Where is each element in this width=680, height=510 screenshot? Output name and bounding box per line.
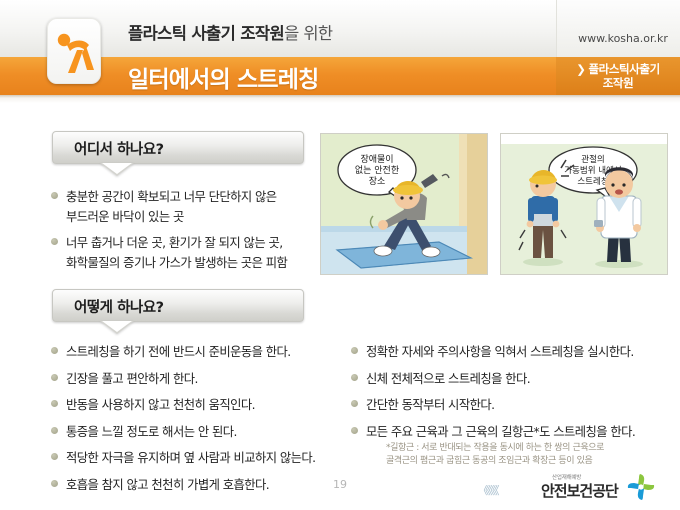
section-banner-how: 어떻게 하나요? [52,289,304,322]
list-item: 통증을 느낄 정도로 해서는 안 된다. [50,421,330,441]
bullet-dot-icon [51,427,58,434]
list-item: 너무 춥거나 더운 곳, 환기가 잘 되지 않는 곳, 화학물질의 증기나 가스… [50,232,315,271]
list-item: 긴장을 풀고 편안하게 한다. [50,368,330,388]
chevron-right-icon: ❯ [576,62,585,76]
list-item: 스트레칭을 하기 전에 반드시 준비운동을 한다. [50,341,330,361]
section-banner-where: 어디서 하나요? [52,131,304,164]
bullet-text: 신체 전체적으로 스트레칭을 한다. [366,372,530,386]
list-item: 모든 주요 근육과 그 근육의 길항근*도 스트레칭을 한다. *길항근 : 서… [350,421,668,469]
svg-text:장소: 장소 [369,176,386,187]
bullet-dot-icon [351,347,358,354]
svg-text:없는 안전한: 없는 안전한 [355,165,399,176]
header-subtitle-bold: 플라스틱 사출기 조작원 [128,24,284,43]
bullet-text: 스트레칭을 하기 전에 반드시 준비운동을 한다. [66,345,291,359]
kosha-pinwheel-logo [626,472,656,502]
header-right-title-line1: 플라스틱사출기 [588,62,659,76]
list-item: 적당한 자극을 유지하며 옆 사람과 비교하지 않는다. [50,447,330,467]
bullet-text: 충분한 공간이 확보되고 너무 단단하지 않은 부드러운 바닥이 있는 곳 [66,190,277,224]
list-item: 반동을 사용하지 않고 천천히 움직인다. [50,394,330,414]
header-subtitle-light: 을 위한 [284,24,332,43]
list-item: 신체 전체적으로 스트레칭을 한다. [350,368,668,388]
header-url[interactable]: www.kosha.or.kr [566,32,680,45]
illustration-doctor-advising: 관절의 가동범위 내에서 스트레칭 [500,133,668,275]
bullet-dot-icon [51,400,58,407]
slide-header: 플라스틱 사출기 조작원을 위한 일터에서의 스트레칭 www.kosha.or… [0,0,680,103]
bullet-dot-icon [51,238,58,245]
worker-stretching-on-mat: 장애물이 없는 안전한 장소 [321,134,487,274]
bullet-text: 긴장을 풀고 편안하게 한다. [66,372,198,386]
footnote-antagonist-muscle: *길항근 : 서로 반대되는 작용을 동시에 하는 한 쌍의 근육으로 골격근의… [386,442,668,468]
bullet-dot-icon [51,347,58,354]
bullet-text: 통증을 느낄 정도로 해서는 안 된다. [66,425,237,439]
list-item: 간단한 동작부터 시작한다. [350,394,668,414]
header-right-title: ❯플라스틱사출기 조작원 [556,62,680,90]
footer-org-name: 안전보건공단 [541,480,618,501]
bullet-text: 간단한 동작부터 시작한다. [366,398,494,412]
header-subtitle: 플라스틱 사출기 조작원을 위한 [128,20,332,44]
bullet-dot-icon [51,374,58,381]
bullet-dot-icon [351,374,358,381]
banner-notch-inner [102,163,132,174]
bullet-dot-icon [351,427,358,434]
list-item: 정확한 자세와 주의사항을 익혀서 스트레칭을 실시한다. [350,341,668,361]
list-item: 충분한 공간이 확보되고 너무 단단하지 않은 부드러운 바닥이 있는 곳 [50,186,315,225]
bullet-text: 적당한 자극을 유지하며 옆 사람과 비교하지 않는다. [66,451,316,465]
bullet-dot-icon [51,453,58,460]
footer-logo: 《《《《 산업재해예방 안전보건공단 [478,470,678,504]
bullet-list-how-left: 스트레칭을 하기 전에 반드시 준비운동을 한다. 긴장을 풀고 편안하게 한다… [50,341,330,500]
section-heading-where: 어디서 하나요? [74,138,164,159]
doctor-advising-worker: 관절의 가동범위 내에서 스트레칭 [501,134,667,274]
svg-text:스트레칭: 스트레칭 [577,177,608,187]
svg-text:관절의: 관절의 [581,154,604,165]
header-right-title-line2: 조작원 [603,76,634,90]
section-heading-how: 어떻게 하나요? [74,296,164,317]
bullet-text: 반동을 사용하지 않고 천천히 움직인다. [66,398,255,412]
banner-notch-inner [102,321,132,332]
bullet-dot-icon [51,192,58,199]
bullet-dot-icon [351,400,358,407]
brand-logo-box [47,18,101,84]
svg-text:장애물이: 장애물이 [360,154,393,165]
footer-chevrons-icon: 《《《《 [478,482,498,498]
header-drop-shadow [0,95,680,98]
bullet-text: 정확한 자세와 주의사항을 익혀서 스트레칭을 실시한다. [366,345,634,359]
illustration-worker-stretching: 장애물이 없는 안전한 장소 [320,133,488,275]
bullet-text: 모든 주요 근육과 그 근육의 길항근*도 스트레칭을 한다. [366,425,635,439]
stretching-person-icon [53,26,97,78]
bullet-text: 너무 춥거나 더운 곳, 환기가 잘 되지 않는 곳, 화학물질의 증기나 가스… [66,236,287,270]
bullet-list-where: 충분한 공간이 확보되고 너무 단단하지 않은 부드러운 바닥이 있는 곳 너무… [50,186,315,278]
slide-root: 플라스틱 사출기 조작원을 위한 일터에서의 스트레칭 www.kosha.or… [0,0,680,510]
header-title: 일터에서의 스트레칭 [128,60,318,94]
bullet-list-how-right: 정확한 자세와 주의사항을 익혀서 스트레칭을 실시한다. 신체 전체적으로 스… [350,341,668,475]
header-top-right-panel [556,0,680,57]
